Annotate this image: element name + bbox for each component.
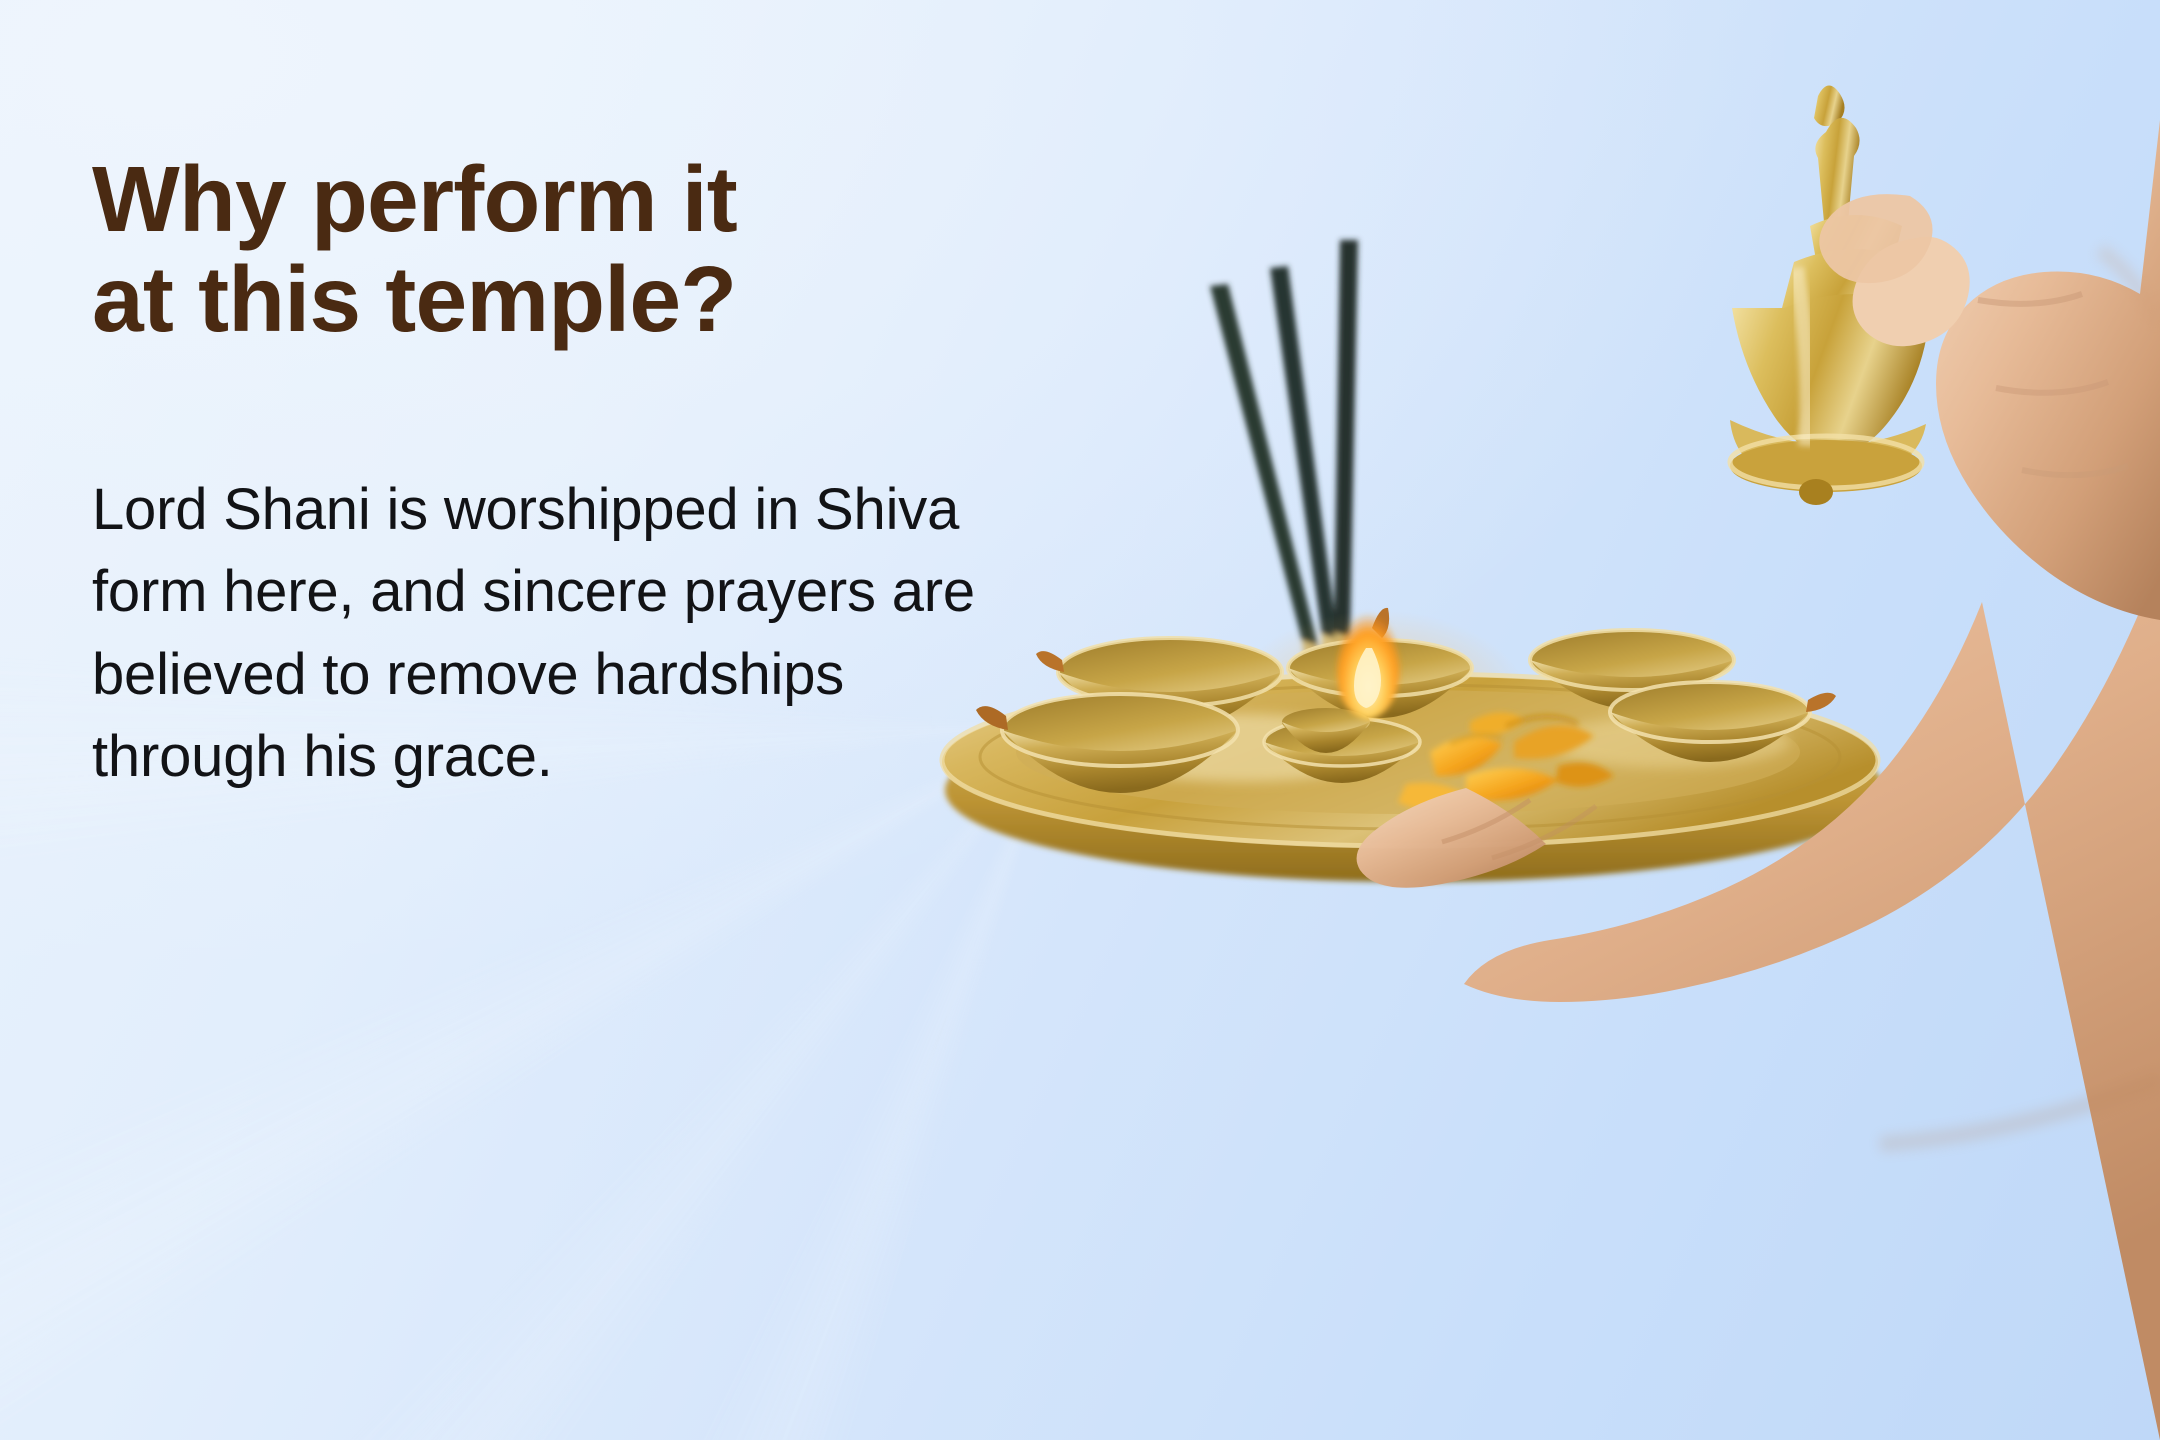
bell-and-hand xyxy=(1730,85,2160,620)
bowl xyxy=(1264,718,1420,783)
flame-glow xyxy=(1230,610,1530,800)
bowl xyxy=(1530,630,1734,709)
text-panel: Why perform it at this temple? Lord Shan… xyxy=(92,150,1042,798)
puja-thali-photo xyxy=(910,0,2160,1440)
bowl xyxy=(1036,638,1282,731)
incense-holder xyxy=(1282,708,1370,753)
thali-group xyxy=(942,674,1885,882)
marigold-petals xyxy=(1398,712,1614,810)
bowls-group xyxy=(976,608,1836,793)
page-title: Why perform it at this temple? xyxy=(92,150,1042,349)
incense-sticks-group xyxy=(1210,240,1358,726)
holding-arm xyxy=(1357,560,2160,1440)
slide-canvas: Why perform it at this temple? Lord Shan… xyxy=(0,0,2160,1440)
headline-line-1: Why perform it xyxy=(92,150,1042,250)
bowl xyxy=(1288,608,1472,718)
body-paragraph: Lord Shani is worshipped in Shiva form h… xyxy=(92,469,1022,798)
diya-flame xyxy=(1337,601,1400,720)
headline-line-2: at this temple? xyxy=(92,250,1042,350)
bowl xyxy=(1610,682,1836,762)
